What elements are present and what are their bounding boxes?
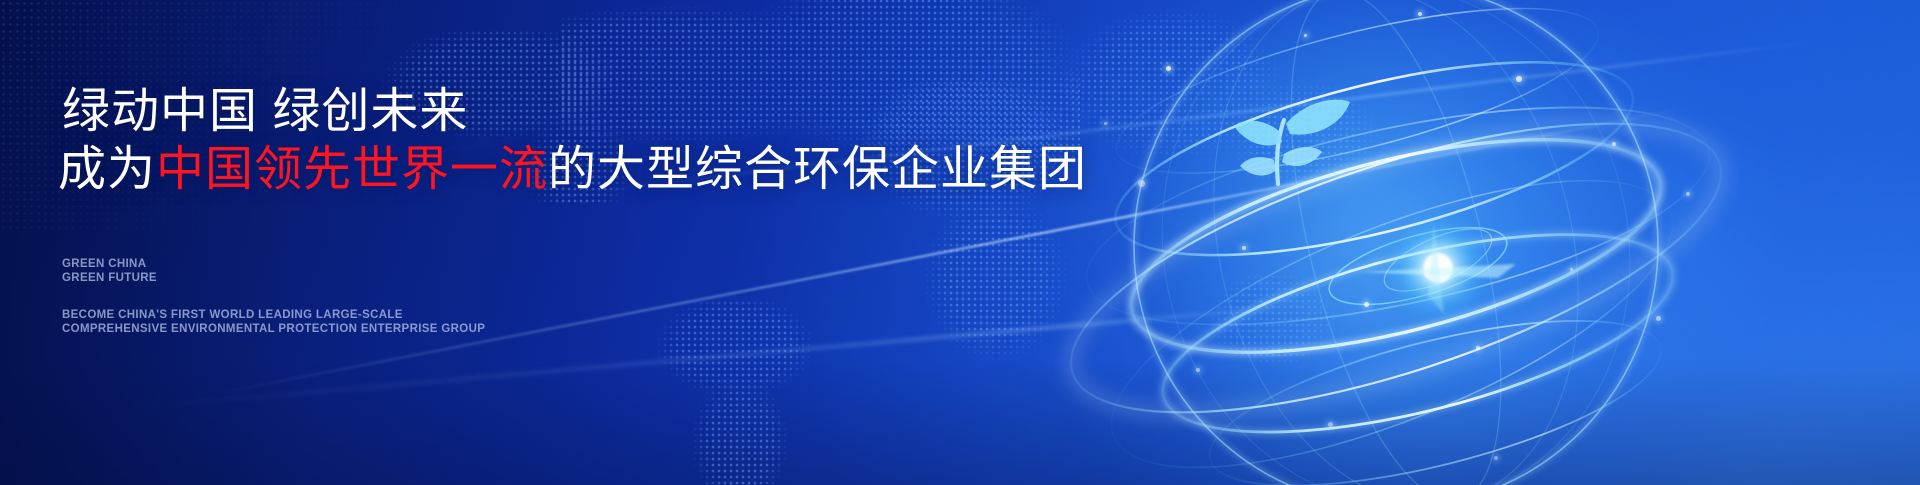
subtitle-en-line-1: GREEN CHINA (62, 258, 157, 272)
particle (1418, 12, 1422, 16)
particle (1612, 142, 1616, 146)
particle (1476, 346, 1480, 350)
particle (1328, 422, 1333, 427)
particle (1570, 268, 1573, 271)
world-map-south-america (620, 300, 860, 485)
particle (1494, 456, 1498, 460)
tagline-en-line-1: BECOME CHINA'S FIRST WORLD LEADING LARGE… (62, 309, 485, 323)
particle (1656, 316, 1661, 321)
headline-line-2-accent: 中国领先世界一流 (156, 143, 548, 196)
particle (1516, 76, 1522, 82)
tagline-en-line-2: COMPREHENSIVE ENVIRONMENTAL PROTECTION E… (62, 323, 485, 337)
headline-block: 绿动中国 绿创未来 成为中国领先世界一流的大型综合环保企业集团 (58, 84, 1058, 198)
headline-line-2: 成为中国领先世界一流的大型综合环保企业集团 (58, 142, 1058, 198)
hero-banner: 绿动中国 绿创未来 成为中国领先世界一流的大型综合环保企业集团 GREEN CH… (0, 0, 1920, 485)
headline-line-2-suffix: 的大型综合环保企业集团 (548, 143, 1087, 196)
world-map-northeast-asia (1050, 0, 1390, 210)
world-map-australia (1180, 250, 1390, 400)
tagline-en-block: BECOME CHINA'S FIRST WORLD LEADING LARGE… (62, 309, 485, 336)
particle (1686, 192, 1690, 196)
headline-line-2-prefix: 成为 (58, 143, 156, 196)
subtitle-en-block: GREEN CHINA GREEN FUTURE (62, 258, 157, 285)
headline-line-1: 绿动中国 绿创未来 (62, 84, 1058, 140)
subtitle-en-line-2: GREEN FUTURE (62, 272, 157, 286)
